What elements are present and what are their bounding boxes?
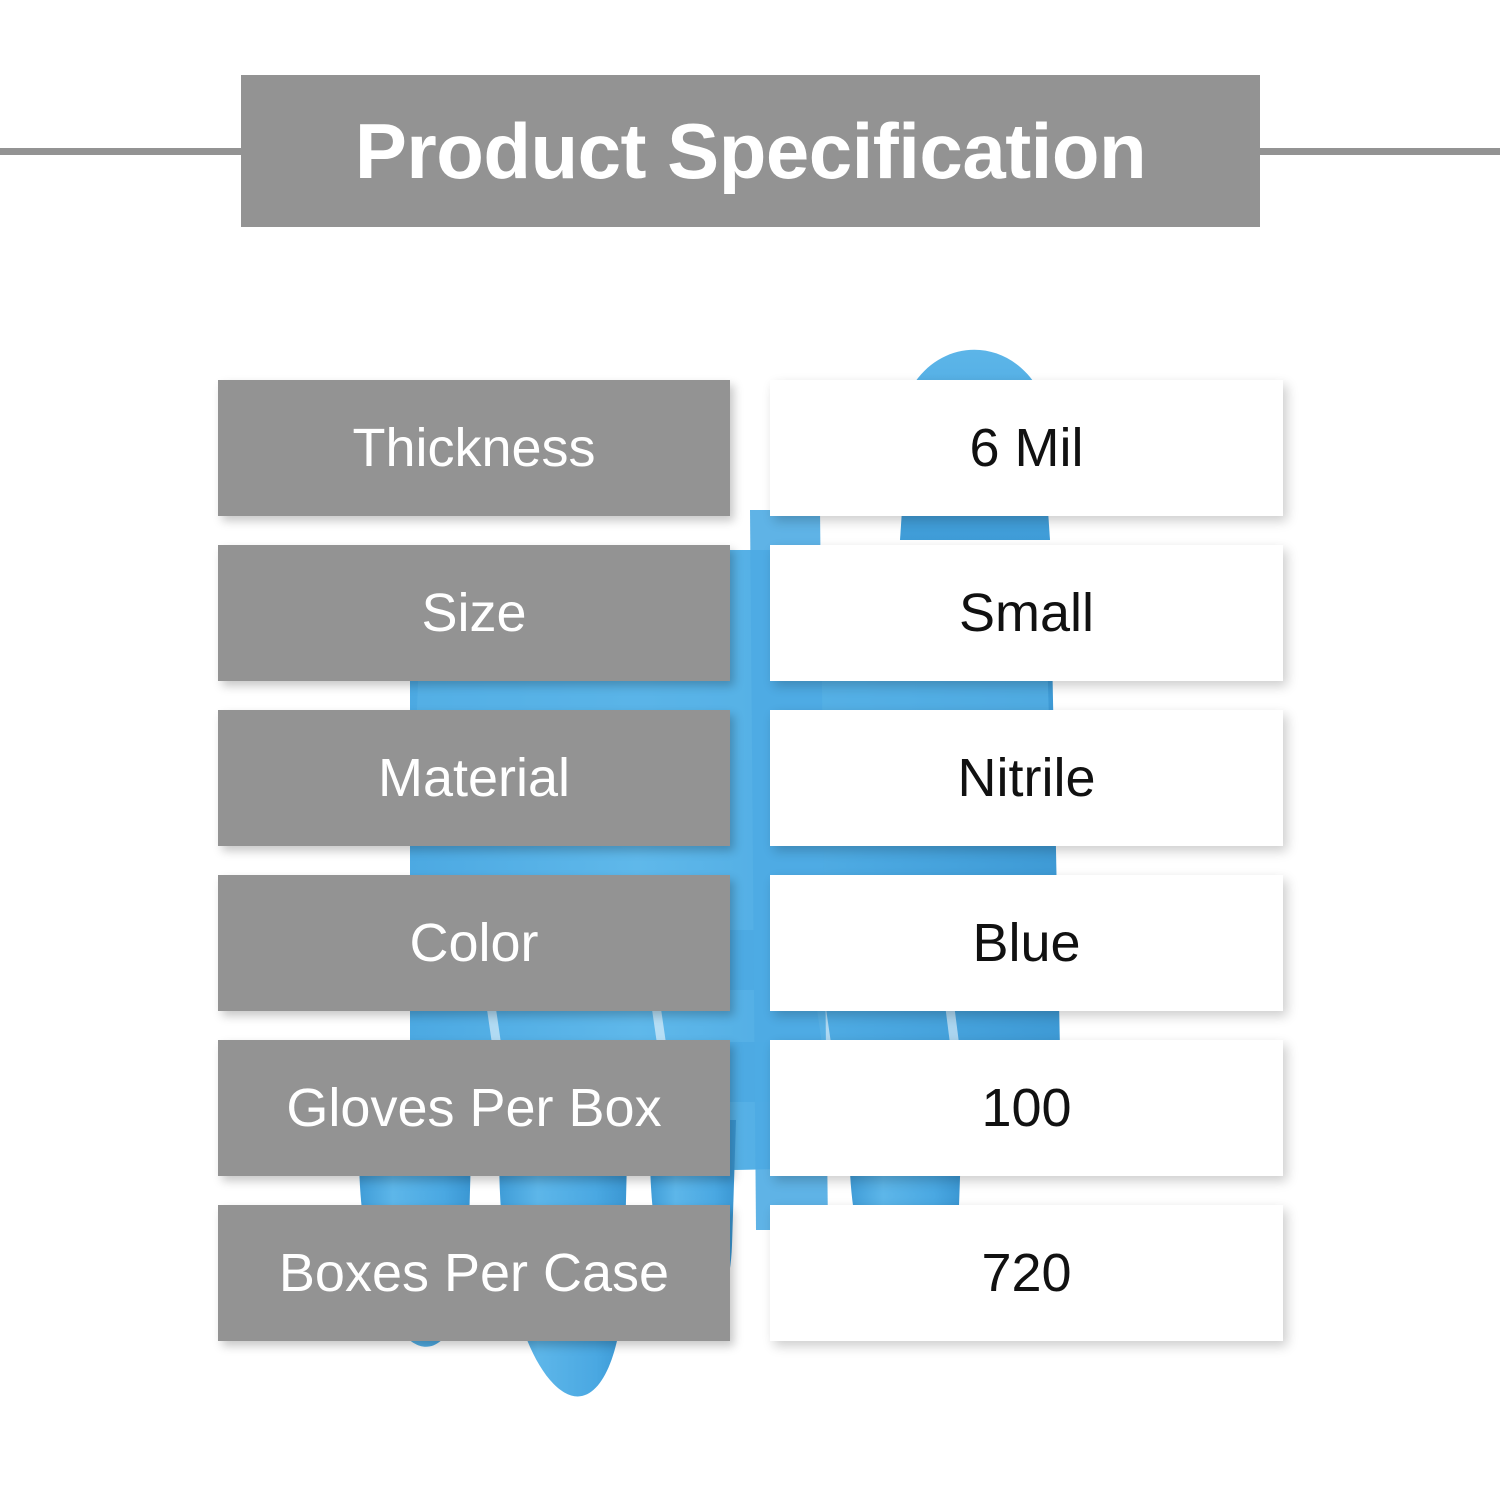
spec-value-text: 6 Mil [969,421,1083,475]
spec-value-cell-color: Blue [770,875,1283,1011]
spec-value-cell-size: Small [770,545,1283,681]
spec-label-text: Material [378,751,570,805]
spec-label-text: Boxes Per Case [279,1246,669,1300]
spec-value-text: Blue [972,916,1080,970]
table-row: Color Blue [0,875,1500,1011]
spec-value-text: Small [959,586,1094,640]
product-specification-page: Product Specification [0,0,1500,1500]
spec-label-cell-color: Color [218,875,730,1011]
spec-label-text: Size [421,586,526,640]
spec-label-cell-boxes-per-case: Boxes Per Case [218,1205,730,1341]
spec-table: Thickness 6 Mil Size Small Material Nitr… [0,0,1500,1500]
spec-value-cell-gloves-per-box: 100 [770,1040,1283,1176]
table-row: Gloves Per Box 100 [0,1040,1500,1176]
spec-value-cell-boxes-per-case: 720 [770,1205,1283,1341]
spec-value-text: 100 [981,1081,1071,1135]
spec-label-cell-material: Material [218,710,730,846]
spec-label-cell-gloves-per-box: Gloves Per Box [218,1040,730,1176]
table-row: Size Small [0,545,1500,681]
spec-label-text: Gloves Per Box [286,1081,661,1135]
table-row: Material Nitrile [0,710,1500,846]
spec-value-cell-material: Nitrile [770,710,1283,846]
spec-value-text: 720 [981,1246,1071,1300]
table-row: Thickness 6 Mil [0,380,1500,516]
spec-label-cell-thickness: Thickness [218,380,730,516]
spec-label-text: Color [409,916,538,970]
table-row: Boxes Per Case 720 [0,1205,1500,1341]
spec-label-text: Thickness [352,421,595,475]
spec-value-text: Nitrile [957,751,1095,805]
spec-value-cell-thickness: 6 Mil [770,380,1283,516]
spec-label-cell-size: Size [218,545,730,681]
